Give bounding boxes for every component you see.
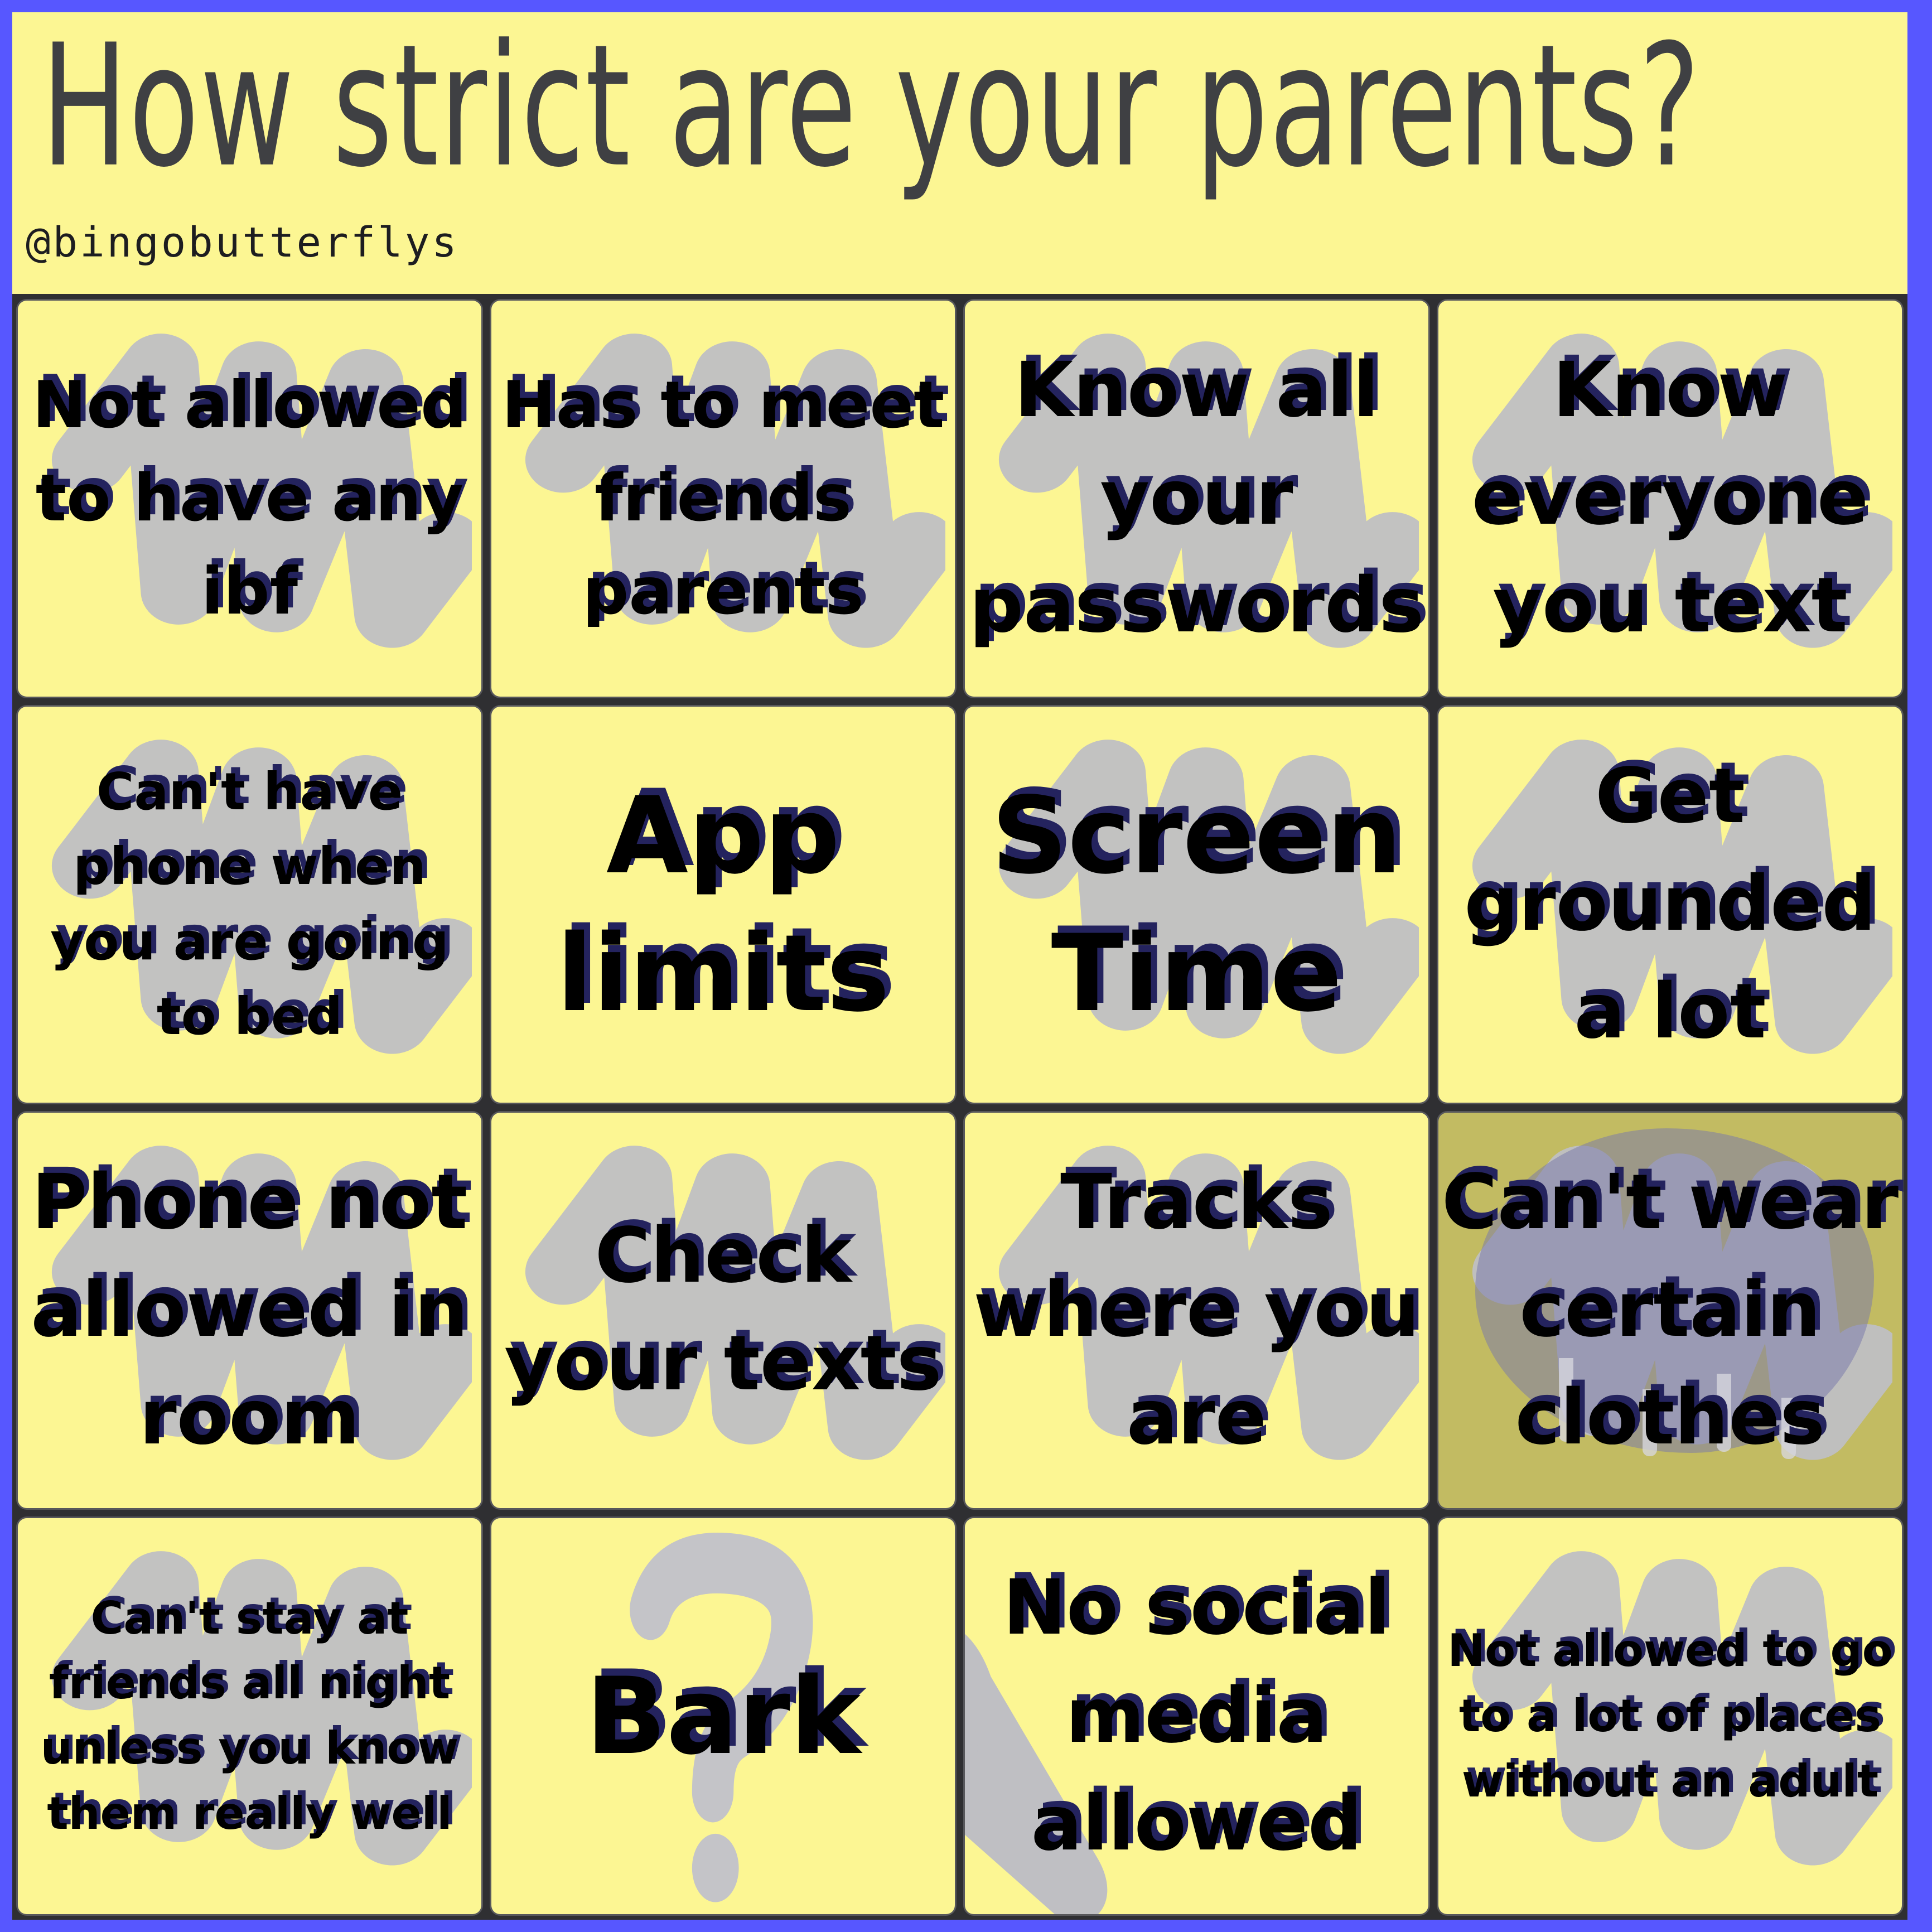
- bingo-cell[interactable]: Can't have phone when you are going to b…: [18, 707, 481, 1103]
- bingo-cell-label: Bark: [491, 1648, 955, 1785]
- bingo-cell-label: Screen Time: [965, 767, 1428, 1042]
- bingo-cell-label: Phone not allowed in room: [18, 1149, 481, 1472]
- bingo-cell-label: Not allowed to have any ibf: [18, 359, 481, 638]
- bingo-cell-label: App limits: [491, 767, 955, 1042]
- bingo-cell[interactable]: Bark: [491, 1518, 955, 1914]
- card-header: How strict are your parents? @bingobutte…: [12, 12, 1907, 294]
- bingo-cell[interactable]: Tracks where you are: [965, 1113, 1428, 1509]
- bingo-cell[interactable]: Get grounded a lot: [1438, 707, 1902, 1103]
- bingo-cell[interactable]: Can't stay at friends all night unless y…: [18, 1518, 481, 1914]
- page-title: How strict are your parents?: [41, 22, 1832, 191]
- bingo-cell-label: Check your texts: [491, 1202, 955, 1418]
- bingo-cell[interactable]: Has to meet friends parents: [491, 301, 955, 697]
- bingo-cell-label: Get grounded a lot: [1438, 743, 1902, 1066]
- bingo-cell[interactable]: App limits: [491, 707, 955, 1103]
- bingo-cell-label: Has to meet friends parents: [491, 359, 955, 638]
- bingo-cell-label: Know all your passwords: [965, 337, 1428, 660]
- bingo-cell[interactable]: Can't wear certain clothes: [1438, 1113, 1902, 1509]
- bingo-cell[interactable]: Screen Time: [965, 707, 1428, 1103]
- bingo-cell-label: Know everyone you text: [1438, 337, 1902, 660]
- bingo-cell[interactable]: Know everyone you text: [1438, 301, 1902, 697]
- bingo-cell-label: Can't stay at friends all night unless y…: [18, 1586, 481, 1847]
- bingo-card: How strict are your parents? @bingobutte…: [12, 12, 1907, 1920]
- bingo-cell-label: Tracks where you are: [965, 1149, 1428, 1472]
- bingo-cell[interactable]: Not allowed to go to a lot of places wit…: [1438, 1518, 1902, 1914]
- bingo-grid: Not allowed to have any ibf Has to meet …: [12, 294, 1907, 1920]
- bingo-cell[interactable]: No social media allowed: [965, 1518, 1428, 1914]
- account-handle: @bingobutterflys: [26, 219, 459, 267]
- bingo-cell[interactable]: Not allowed to have any ibf: [18, 301, 481, 697]
- bingo-cell[interactable]: Check your texts: [491, 1113, 955, 1509]
- bingo-cell[interactable]: Know all your passwords: [965, 301, 1428, 697]
- bingo-cell-label: Can't wear certain clothes: [1438, 1149, 1902, 1472]
- bingo-cell-label: Can't have phone when you are going to b…: [18, 755, 481, 1054]
- bingo-cell-label: Not allowed to go to a lot of places wit…: [1438, 1619, 1902, 1814]
- bingo-cell[interactable]: Phone not allowed in room: [18, 1113, 481, 1509]
- bingo-cell-label: No social media allowed: [965, 1554, 1428, 1877]
